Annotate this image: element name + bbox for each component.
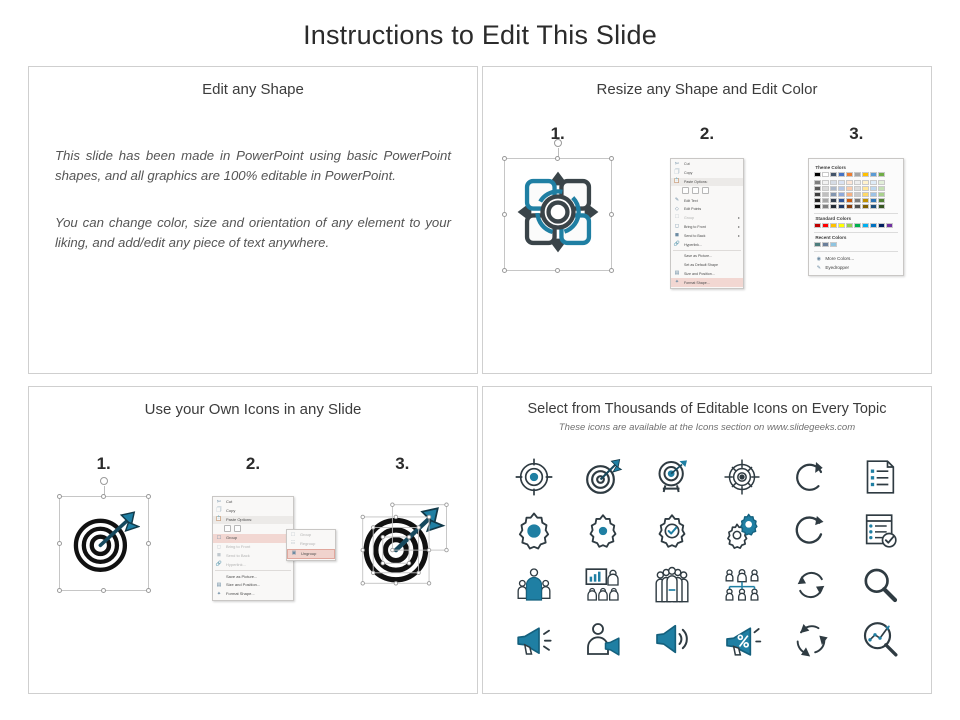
theme-swatch[interactable] [830, 198, 837, 203]
format-shape-icon: ✦ [673, 280, 681, 286]
menu-item-bring-front-label: Bring to Front [684, 225, 706, 229]
theme-swatch[interactable] [846, 204, 853, 209]
format-shape-icon: ✦ [215, 591, 223, 597]
theme-color-column[interactable] [870, 172, 877, 209]
menu-item-edit-text-label: Edit Text [684, 199, 698, 203]
menu-item-save-picture-label: Save as Picture... [684, 254, 712, 258]
menu-item-size-and-position[interactable]: ▤ Size and Position... [213, 581, 293, 590]
none-icon [673, 253, 681, 259]
person-megaphone-icon [583, 619, 623, 659]
people-group-icon [514, 565, 554, 605]
panel4-title: Select from Thousands of Editable Icons … [483, 387, 931, 417]
standard-swatch[interactable] [886, 223, 893, 228]
checklist-approved-icon [860, 511, 900, 551]
paste-picture-icon[interactable] [702, 187, 709, 194]
palette-icon: ◉ [815, 256, 822, 262]
theme-swatch[interactable] [854, 186, 861, 191]
four-quadrant-resize-shape-icon [515, 169, 601, 255]
panel3-steps: 1. 2. 3. [29, 454, 477, 474]
menu-item-hyperlink-label: Hyperlink... [226, 563, 246, 568]
theme-swatch[interactable] [822, 172, 829, 177]
scissors-icon: ✄ [215, 499, 223, 505]
refresh-arrow-icon [791, 457, 831, 497]
theme-swatch[interactable] [870, 180, 877, 185]
menu-divider [215, 570, 291, 571]
theme-swatch[interactable] [870, 204, 877, 209]
menu-item-group-label: Group [684, 216, 694, 220]
submenu-item-regroup-label: Regroup [300, 542, 315, 547]
menu-item-paste-label: Paste Options: [226, 518, 252, 523]
theme-swatch[interactable] [814, 204, 821, 209]
submenu-item-regroup[interactable]: ☷ Regroup [287, 540, 335, 549]
theme-swatch[interactable] [878, 192, 885, 197]
icon-cell[interactable] [707, 613, 776, 665]
menu-item-edit-points[interactable]: ◇ Edit Points [671, 205, 743, 214]
slide-root: Instructions to Edit This Slide Edit any… [0, 0, 960, 720]
theme-swatch[interactable] [822, 198, 829, 203]
icon-cell[interactable] [846, 559, 915, 611]
sync-arrows-icon [791, 565, 831, 605]
panel-resize-shape-edit-color: Resize any Shape and Edit Color 1. 2. 3. [482, 66, 932, 374]
icon-cell[interactable] [846, 613, 915, 665]
standard-swatch[interactable] [814, 223, 821, 228]
menu-item-cut-label: Cut [684, 162, 690, 166]
theme-swatch[interactable] [862, 192, 869, 197]
chevron-right-icon: ▸ [738, 225, 740, 230]
theme-swatch[interactable] [846, 180, 853, 185]
icon-cell[interactable] [568, 613, 637, 665]
ungroup-icon: ▣ [290, 551, 298, 557]
icon-cell[interactable] [846, 505, 915, 557]
icon-cell[interactable] [568, 559, 637, 611]
menu-item-cut-label: Cut [226, 500, 232, 505]
color-picker-divider [814, 213, 898, 214]
menu-item-hyperlink[interactable]: 🔗 Hyperlink... [671, 240, 743, 249]
theme-swatch[interactable] [830, 192, 837, 197]
crosshair-target-icon [514, 457, 554, 497]
theme-color-column[interactable] [830, 172, 837, 209]
theme-swatch[interactable] [830, 204, 837, 209]
menu-item-edit-points-label: Edit Points [684, 207, 701, 211]
theme-swatch[interactable] [822, 180, 829, 185]
theme-swatch[interactable] [854, 204, 861, 209]
menu-item-paste-label: Paste Options: [684, 180, 708, 184]
icon-context-menu[interactable]: ✄ Cut 🗍 Copy 📋 Paste Options: [212, 496, 294, 601]
icon-cell[interactable] [846, 451, 915, 503]
panel-editable-icons-library: Select from Thousands of Editable Icons … [482, 386, 932, 694]
none-icon [673, 262, 681, 268]
regroup-icon: ☷ [289, 541, 297, 547]
icon-cell[interactable] [499, 559, 568, 611]
menu-item-group[interactable]: ☐ Group ▸ [213, 534, 293, 543]
icon-library-grid [483, 439, 931, 675]
menu-item-format-shape[interactable]: ✦ Format Shape... [213, 590, 293, 599]
menu-divider [673, 250, 741, 251]
menu-item-paste-options[interactable]: 📋 Paste Options: [213, 516, 293, 525]
theme-swatch[interactable] [846, 186, 853, 191]
panel1-paragraph-1: This slide has been made in PowerPoint u… [55, 146, 451, 187]
send-back-icon: ◼ [673, 233, 681, 239]
theme-swatch[interactable] [862, 204, 869, 209]
theme-colors-grid[interactable] [814, 172, 898, 209]
theme-swatch[interactable] [838, 192, 845, 197]
theme-swatch[interactable] [870, 198, 877, 203]
icon-cell[interactable] [776, 505, 845, 557]
submenu-item-ungroup-label: Ungroup [301, 552, 316, 557]
theme-swatch[interactable] [870, 186, 877, 191]
panel1-paragraph-2: You can change color, size and orientati… [55, 213, 451, 254]
menu-item-set-default-label: Set as Default Shape [684, 263, 718, 267]
theme-swatch[interactable] [830, 172, 837, 177]
target-stand-icon [652, 457, 692, 497]
panel3-figures: ✄ Cut 🗍 Copy 📋 Paste Options: [29, 496, 477, 601]
menu-item-save-as-picture[interactable]: Save as Picture... [671, 252, 743, 261]
eyedropper-label: Eyedropper [825, 265, 849, 270]
menu-item-hyperlink-label: Hyperlink... [684, 243, 702, 247]
theme-swatch[interactable] [822, 204, 829, 209]
panel3-step-3: 3. [328, 454, 477, 474]
handle-mid-left[interactable] [57, 541, 62, 546]
icon-cell[interactable] [568, 451, 637, 503]
recent-colors-row[interactable] [814, 242, 898, 247]
standard-swatch[interactable] [846, 223, 853, 228]
circular-arrow-icon [791, 511, 831, 551]
menu-item-copy-label: Copy [226, 509, 235, 514]
theme-swatch[interactable] [862, 186, 869, 191]
paste-option-buttons[interactable] [671, 186, 743, 196]
panel2-figure-2: ✄ Cut 🗍 Copy 📋 Paste Options: [634, 158, 780, 289]
magnifier-icon [860, 565, 900, 605]
panel3-figure-2: ✄ Cut 🗍 Copy 📋 Paste Options: [180, 496, 326, 601]
menu-item-format-shape[interactable]: ✦ Format Shape... [671, 278, 743, 287]
submenu-item-group-label: Group [300, 533, 311, 538]
theme-swatch[interactable] [854, 198, 861, 203]
theme-swatch[interactable] [846, 198, 853, 203]
paste-icon: 📋 [673, 179, 681, 185]
handle-mid-right[interactable] [146, 541, 151, 546]
crosshair-scope-icon [722, 457, 762, 497]
target-dart-icon [68, 505, 140, 577]
color-picker-divider [814, 251, 898, 252]
panel1-body: This slide has been made in PowerPoint u… [29, 146, 477, 254]
icon-selection-ungrouped[interactable] [354, 496, 450, 592]
more-colors-button[interactable]: ◉ More Colors... [814, 254, 898, 263]
recent-swatch[interactable] [822, 242, 829, 247]
handle-bottom-left[interactable] [502, 268, 507, 273]
icon-cell[interactable] [499, 451, 568, 503]
handle-bottom-right[interactable] [146, 588, 151, 593]
menu-item-save-picture-label: Save as Picture... [226, 575, 257, 580]
hyperlink-icon: 🔗 [673, 242, 681, 248]
panel3-title: Use your Own Icons in any Slide [29, 387, 477, 418]
menu-item-size-and-position[interactable]: ▤ Size and Position... [671, 270, 743, 279]
menu-item-copy-label: Copy [684, 171, 692, 175]
page-title: Instructions to Edit This Slide [0, 0, 960, 51]
icon-cell[interactable] [776, 613, 845, 665]
group-icon: ☐ [215, 536, 223, 542]
submenu-item-ungroup[interactable]: ▣ Ungroup [287, 549, 335, 560]
icon-cell[interactable] [638, 451, 707, 503]
paste-option-buttons[interactable] [213, 524, 293, 534]
handle-top-center[interactable] [101, 494, 106, 499]
group-icon: ☐ [673, 215, 681, 221]
panel2-figure-1 [485, 158, 631, 271]
standard-swatch[interactable] [862, 223, 869, 228]
theme-swatch[interactable] [878, 204, 885, 209]
handle-bottom-right[interactable] [609, 268, 614, 273]
standard-swatch[interactable] [878, 223, 885, 228]
menu-item-size-position-label: Size and Position... [684, 272, 715, 276]
submenu-item-group[interactable]: ☐ Group [287, 531, 335, 540]
checklist-document-icon [860, 457, 900, 497]
theme-swatch[interactable] [846, 172, 853, 177]
icon-cell[interactable] [707, 559, 776, 611]
theme-swatch[interactable] [830, 186, 837, 191]
theme-swatch[interactable] [878, 180, 885, 185]
theme-color-column[interactable] [822, 172, 829, 209]
color-picker-panel[interactable]: Theme Colors [808, 158, 904, 276]
menu-item-bring-to-front[interactable]: ◻ Bring to Front ▸ [671, 223, 743, 232]
theme-swatch[interactable] [854, 180, 861, 185]
panel3-figure-1 [31, 496, 177, 591]
handle-bottom-center[interactable] [101, 588, 106, 593]
panel-use-own-icons: Use your Own Icons in any Slide 1. 2. 3. [28, 386, 478, 694]
panels-grid: Edit any Shape This slide has been made … [28, 66, 932, 694]
bring-front-icon: ◻ [673, 224, 681, 230]
theme-color-column[interactable] [814, 172, 821, 209]
handle-bottom-center[interactable] [555, 268, 560, 273]
team-hierarchy-icon [722, 565, 762, 605]
chevron-right-icon: ▸ [738, 234, 740, 239]
standard-swatch[interactable] [854, 223, 861, 228]
theme-swatch[interactable] [878, 186, 885, 191]
handle-bottom-left[interactable] [57, 588, 62, 593]
theme-swatch[interactable] [822, 186, 829, 191]
theme-swatch[interactable] [870, 172, 877, 177]
gear-check-icon [652, 511, 692, 551]
menu-item-group-label: Group [226, 536, 237, 541]
handle-top-right[interactable] [609, 156, 614, 161]
paste-merge-formatting-icon[interactable] [692, 187, 699, 194]
chevron-right-icon: ▸ [738, 216, 740, 221]
icon-cell[interactable] [638, 613, 707, 665]
menu-item-cut[interactable]: ✄ Cut [671, 160, 743, 169]
menu-item-cut[interactable]: ✄ Cut [213, 498, 293, 507]
paste-keep-formatting-icon[interactable] [682, 187, 689, 194]
color-picker-divider [814, 232, 898, 233]
theme-color-column[interactable] [846, 172, 853, 209]
menu-item-edit-text[interactable]: ✎ Edit Text [671, 196, 743, 205]
menu-item-copy[interactable]: 🗍 Copy [671, 169, 743, 178]
standard-colors-label: Standard Colors [815, 216, 898, 221]
theme-swatch[interactable] [814, 180, 821, 185]
icon-cell[interactable] [776, 559, 845, 611]
more-colors-label: More Colors... [825, 256, 854, 261]
theme-swatch[interactable] [814, 198, 821, 203]
recent-swatch[interactable] [814, 242, 821, 247]
team-standing-icon [652, 565, 692, 605]
hyperlink-icon: 🔗 [215, 562, 223, 568]
theme-swatch[interactable] [862, 172, 869, 177]
theme-swatch[interactable] [814, 172, 821, 177]
theme-swatch[interactable] [838, 186, 845, 191]
standard-swatch[interactable] [822, 223, 829, 228]
panel1-title: Edit any Shape [29, 67, 477, 98]
paste-icon: 📋 [215, 517, 223, 523]
menu-item-hyperlink[interactable]: 🔗 Hyperlink... [213, 561, 293, 570]
icon-selection-frame-grouped[interactable] [59, 496, 149, 591]
menu-item-format-shape-label: Format Shape... [684, 281, 710, 285]
handle-top-left[interactable] [57, 494, 62, 499]
theme-colors-label: Theme Colors [815, 165, 898, 170]
theme-swatch[interactable] [814, 192, 821, 197]
theme-swatch[interactable] [830, 180, 837, 185]
menu-item-save-as-picture[interactable]: Save as Picture... [213, 572, 293, 581]
theme-swatch[interactable] [854, 172, 861, 177]
panel4-subtitle: These icons are available at the Icons s… [483, 417, 931, 433]
theme-swatch[interactable] [814, 186, 821, 191]
double-gears-icon [722, 511, 762, 551]
theme-swatch[interactable] [838, 198, 845, 203]
menu-item-set-default-shape[interactable]: Set as Default Shape [671, 261, 743, 270]
handle-top-right[interactable] [146, 494, 151, 499]
panel2-figures: ✄ Cut 🗍 Copy 📋 Paste Options: [483, 158, 931, 289]
eyedropper-icon: ✎ [815, 265, 822, 271]
send-back-icon: ◼ [215, 553, 223, 559]
menu-item-copy[interactable]: 🗍 Copy [213, 507, 293, 516]
group-submenu[interactable]: ☐ Group ☷ Regroup ▣ Ungroup [286, 529, 336, 561]
standard-swatch[interactable] [830, 223, 837, 228]
theme-swatch[interactable] [854, 192, 861, 197]
standard-swatch[interactable] [870, 223, 877, 228]
icon-cell[interactable] [499, 613, 568, 665]
bring-front-icon: ◻ [215, 545, 223, 551]
theme-color-column[interactable] [862, 172, 869, 209]
group-icon: ☐ [289, 532, 297, 538]
paste-keep-formatting-icon[interactable] [224, 525, 231, 532]
paste-picture-icon[interactable] [234, 525, 241, 532]
handle-mid-left[interactable] [502, 212, 507, 217]
shape-context-menu[interactable]: ✄ Cut 🗍 Copy 📋 Paste Options: [670, 158, 744, 289]
theme-swatch[interactable] [838, 204, 845, 209]
icon-cell[interactable] [776, 451, 845, 503]
rotate-handle[interactable] [100, 477, 108, 485]
edit-text-icon: ✎ [673, 198, 681, 204]
shape-selection-frame[interactable] [504, 158, 612, 271]
panel2-step-3: 3. [782, 124, 931, 144]
panel2-figure-3: Theme Colors [783, 158, 929, 276]
theme-swatch[interactable] [878, 198, 885, 203]
icon-cell[interactable] [707, 505, 776, 557]
megaphone-percent-icon [722, 619, 762, 659]
speaker-loud-icon [652, 619, 692, 659]
theme-color-column[interactable] [838, 172, 845, 209]
gear-filled-icon [514, 511, 554, 551]
theme-swatch[interactable] [838, 172, 845, 177]
standard-colors-row[interactable] [814, 223, 898, 228]
menu-item-send-to-back[interactable]: ◼ Send to Back ▸ [671, 231, 743, 240]
menu-item-bring-to-front[interactable]: ◻ Bring to Front ▸ [213, 543, 293, 552]
theme-swatch[interactable] [862, 198, 869, 203]
icon-cell[interactable] [499, 505, 568, 557]
panel3-step-1: 1. [29, 454, 178, 474]
theme-swatch[interactable] [838, 180, 845, 185]
standard-swatch[interactable] [838, 223, 845, 228]
panel3-step-2: 2. [178, 454, 327, 474]
eyedropper-button[interactable]: ✎ Eyedropper [814, 263, 898, 272]
none-icon [215, 574, 223, 580]
icon-cell[interactable] [638, 559, 707, 611]
icon-cell[interactable] [707, 451, 776, 503]
panel2-title: Resize any Shape and Edit Color [483, 67, 931, 98]
menu-item-group[interactable]: ☐ Group ▸ [671, 214, 743, 223]
size-position-icon: ▤ [673, 271, 681, 277]
icon-cell[interactable] [638, 505, 707, 557]
recent-colors-label: Recent Colors [815, 235, 898, 240]
theme-color-column[interactable] [878, 172, 885, 209]
panel2-steps: 1. 2. 3. [483, 124, 931, 144]
theme-swatch[interactable] [870, 192, 877, 197]
handle-top-center[interactable] [555, 156, 560, 161]
menu-item-send-to-back[interactable]: ◼ Send to Back ▸ [213, 552, 293, 561]
theme-swatch[interactable] [846, 192, 853, 197]
copy-icon: 🗍 [673, 170, 681, 176]
menu-item-size-position-label: Size and Position... [226, 583, 260, 588]
magnifier-chart-icon [860, 619, 900, 659]
rotate-handle[interactable] [554, 139, 562, 147]
edit-points-icon: ◇ [673, 207, 681, 213]
recent-swatch[interactable] [830, 242, 837, 247]
copy-icon: 🗍 [215, 508, 223, 514]
menu-item-format-shape-label: Format Shape... [226, 592, 255, 597]
icon-cell[interactable] [568, 505, 637, 557]
theme-color-column[interactable] [854, 172, 861, 209]
size-position-icon: ▤ [215, 583, 223, 589]
handle-top-left[interactable] [502, 156, 507, 161]
target-dart-icon-ungrouped [354, 496, 450, 592]
scissors-icon: ✄ [673, 161, 681, 167]
theme-swatch[interactable] [822, 192, 829, 197]
panel2-step-2: 2. [632, 124, 781, 144]
gear-small-icon [583, 511, 623, 551]
presentation-team-icon [583, 565, 623, 605]
menu-item-paste-options[interactable]: 📋 Paste Options: [671, 178, 743, 187]
megaphone-icon [514, 619, 554, 659]
handle-mid-right[interactable] [609, 212, 614, 217]
menu-item-send-back-label: Send to Back [226, 554, 250, 559]
menu-item-send-back-label: Send to Back [684, 234, 705, 238]
target-dart-icon [583, 457, 623, 497]
theme-swatch[interactable] [878, 172, 885, 177]
panel3-figure-3 [329, 496, 475, 592]
cycle-arrows-icon [791, 619, 831, 659]
menu-item-bring-front-label: Bring to Front [226, 545, 250, 550]
panel-edit-any-shape: Edit any Shape This slide has been made … [28, 66, 478, 374]
theme-swatch[interactable] [862, 180, 869, 185]
